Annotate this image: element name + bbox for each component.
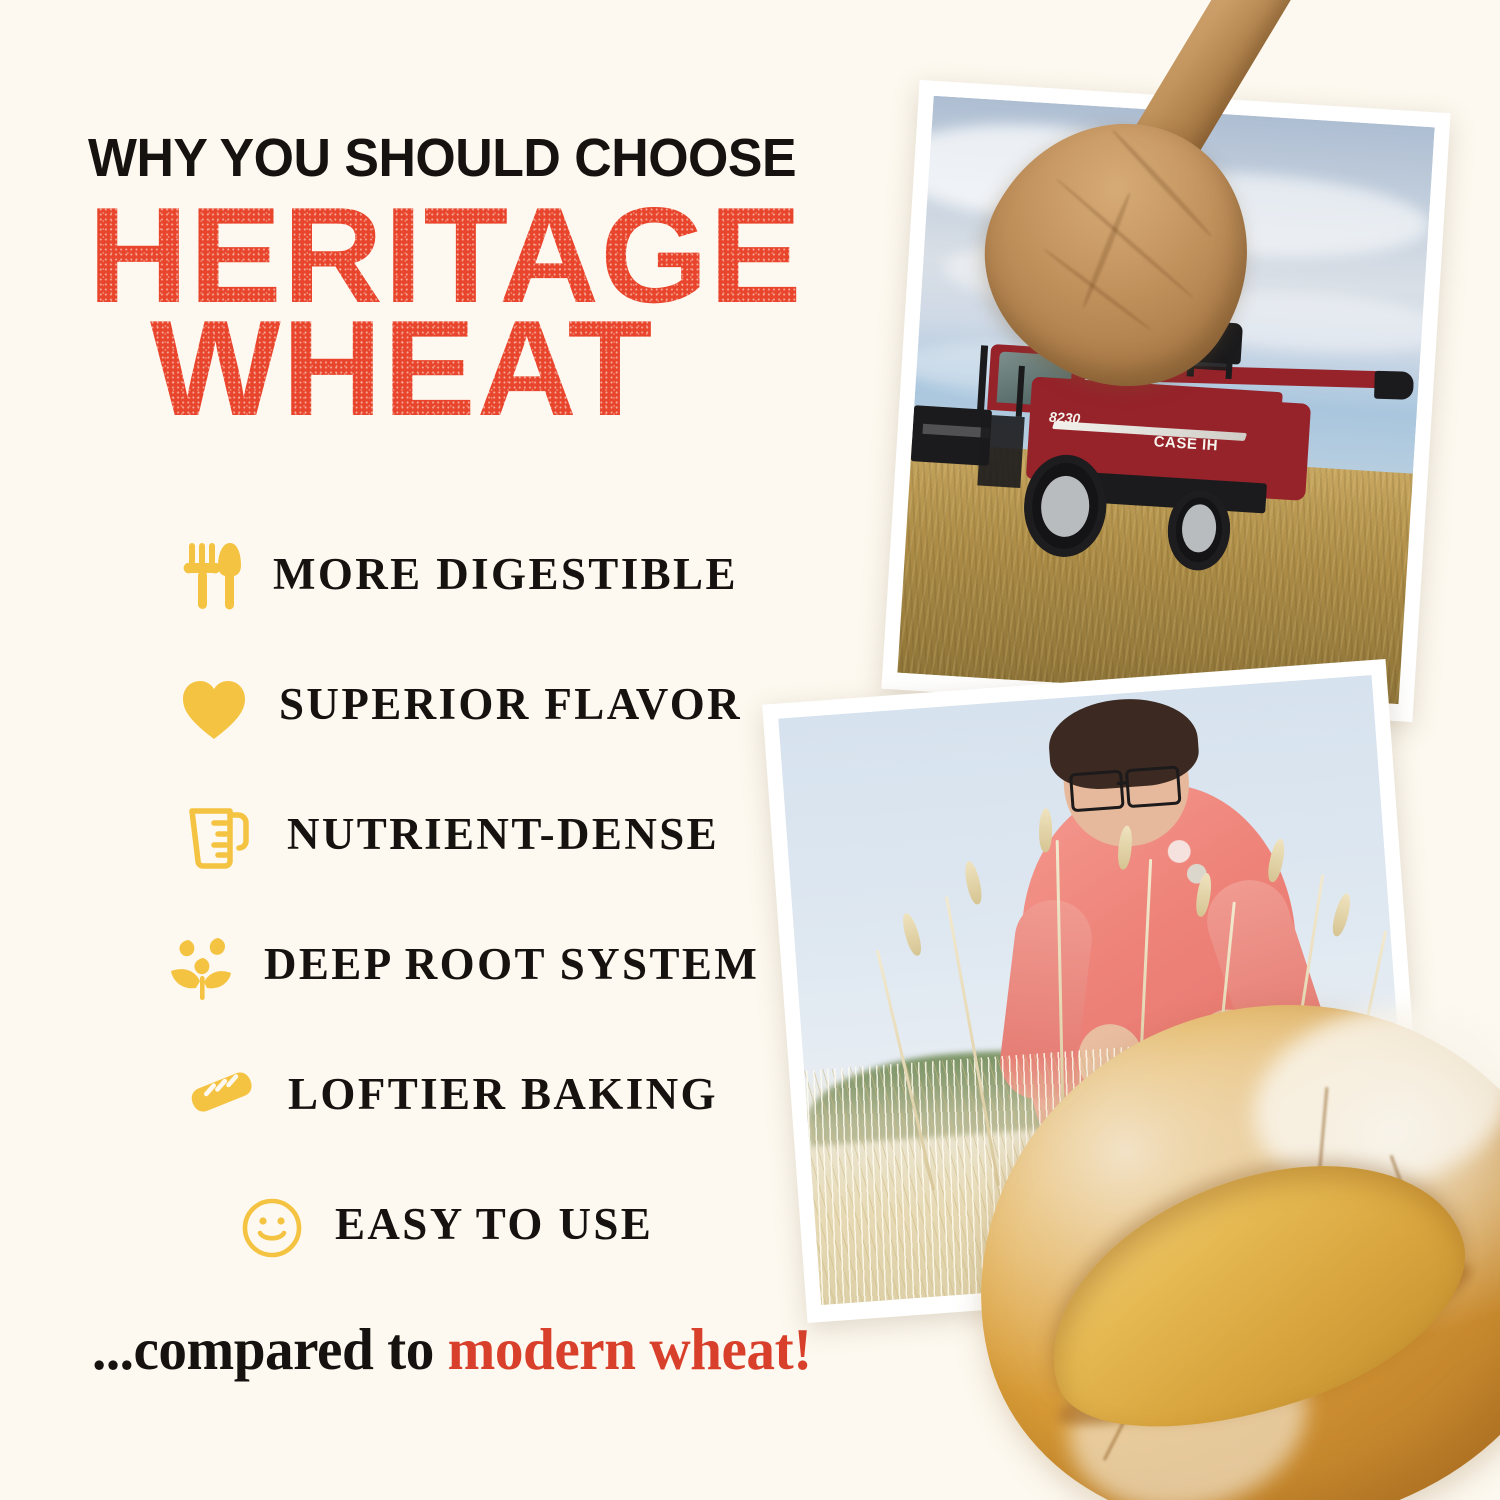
smiley-face-icon [234,1190,310,1266]
benefit-label: LOFTIER BAKING [288,1068,718,1120]
benefits-list: MORE DIGESTIBLE SUPERIOR FLAVOR [0,516,790,1296]
benefit-label: DEEP ROOT SYSTEM [264,938,759,990]
woman-glasses-left-lens [1069,770,1125,812]
benefit-label: NUTRIENT-DENSE [287,808,719,860]
benefit-row-easy-to-use: EASY TO USE [0,1166,790,1296]
headline-line-wheat-text: WHEAT [150,292,653,444]
tagline-highlight: modern wheat! [448,1316,812,1382]
sprout-icon [164,930,240,1006]
woman-glasses-right-lens [1125,766,1181,808]
headline-kicker: WHY YOU SHOULD CHOOSE [88,131,796,185]
headline-line-wheat: WHEAT [150,310,653,427]
auger-spout [1374,371,1413,400]
infographic-canvas: WHY YOU SHOULD CHOOSE HERITAGE WHEAT [0,0,1500,1500]
benefit-row-nutrient-dense: NUTRIENT-DENSE [0,776,790,906]
benefit-row-loftier-baking: LOFTIER BAKING [0,1036,790,1166]
benefit-label: EASY TO USE [335,1198,653,1250]
benefit-label: MORE DIGESTIBLE [273,548,738,600]
bread-loaf-icon [185,1060,261,1136]
fork-and-knife-icon [176,538,252,614]
measuring-cup-icon [180,800,256,876]
tagline-prefix: ...compared to [92,1316,448,1382]
heart-icon [176,672,252,748]
benefit-row-deep-root-system: DEEP ROOT SYSTEM [0,906,790,1036]
benefit-label: SUPERIOR FLAVOR [279,678,742,730]
left-content-column: WHY YOU SHOULD CHOOSE HERITAGE WHEAT [0,0,840,1500]
feeder-house [977,414,1025,488]
comparison-tagline: ...compared to modern wheat! [92,1315,812,1384]
benefit-row-more-digestible: MORE DIGESTIBLE [0,516,790,646]
benefit-row-superior-flavor: SUPERIOR FLAVOR [0,646,790,776]
model-number-decal: 8230 [1049,408,1081,426]
